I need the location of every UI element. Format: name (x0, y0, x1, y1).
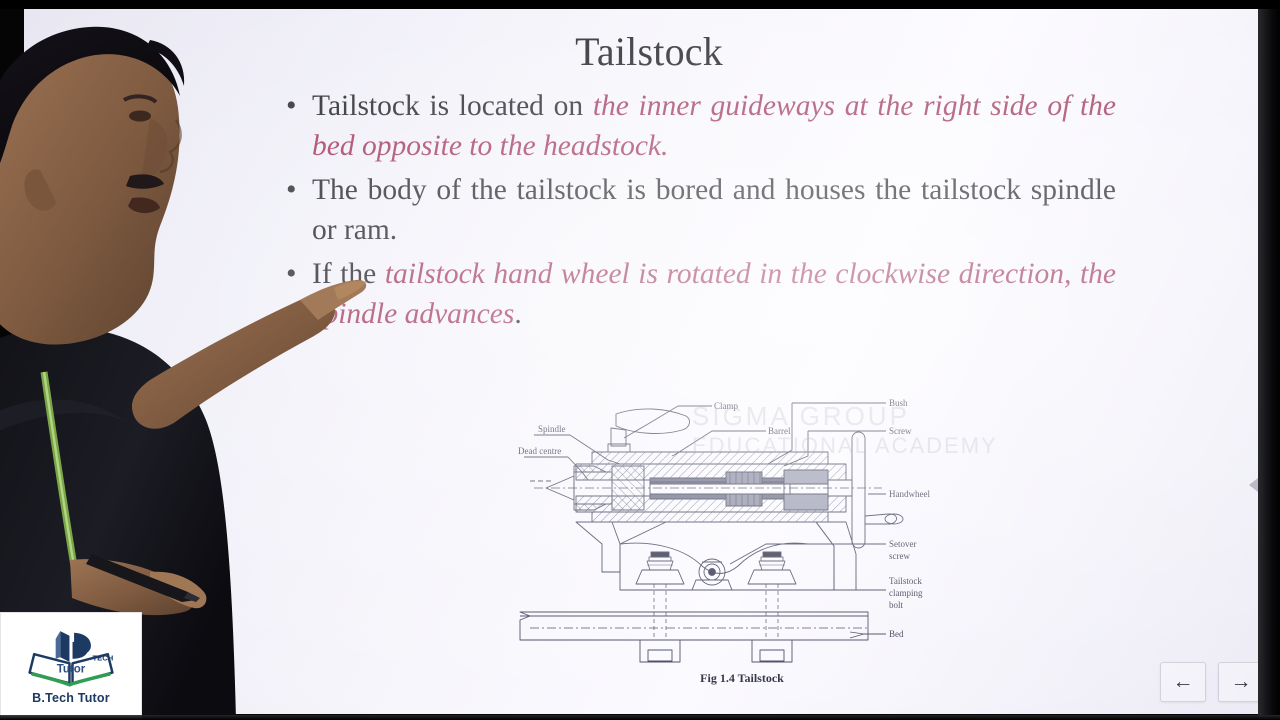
list-item: • If the tailstock hand wheel is rotated… (286, 254, 1116, 334)
screen-bezel-right (1258, 0, 1280, 720)
label-barrel: Barrel (768, 426, 791, 436)
label-bed: Bed (889, 629, 904, 639)
list-item-text: The body of the tailstock is bored and h… (312, 170, 1116, 250)
screen-bezel-top (0, 0, 1280, 9)
list-item: • Tailstock is located on the inner guid… (286, 86, 1116, 166)
label-setover-screw-1: Setover (889, 539, 917, 549)
tailstock-diagram: SIGMA GROUP EDUCATIONAL ACADEMY (516, 394, 968, 694)
arrow-right-icon: → (1231, 670, 1252, 694)
list-item: • The body of the tailstock is bored and… (286, 170, 1116, 250)
bullet-list: • Tailstock is located on the inner guid… (286, 86, 1116, 338)
text-segment: If the (312, 258, 385, 290)
text-segment-emphasis: tailstock hand wheel is rotated in the c… (312, 258, 1116, 330)
list-item-text: If the tailstock hand wheel is rotated i… (312, 254, 1116, 334)
page-title: Tailstock (24, 28, 1274, 75)
video-frame: Tailstock • Tailstock is located on the … (0, 0, 1280, 720)
label-screw: Screw (889, 426, 912, 436)
collapse-panel-arrow-icon[interactable] (1249, 478, 1258, 492)
label-clamping-bolt-1: Tailstock (889, 576, 922, 586)
screen-bezel-bottom (0, 715, 1280, 720)
tailstock-drawing-svg: Clamp Bush Barrel Screw Spindle Dead cen… (516, 394, 968, 694)
bullet-marker: • (286, 86, 312, 126)
label-clamping-bolt-3: bolt (889, 600, 904, 610)
presentation-slide: Tailstock • Tailstock is located on the … (24, 8, 1274, 714)
arrow-left-icon: ← (1173, 670, 1194, 694)
label-bush: Bush (889, 398, 908, 408)
label-handwheel: Handwheel (889, 489, 930, 499)
bullet-marker: • (286, 254, 312, 294)
label-dead-centre: Dead centre (518, 446, 561, 456)
bullet-marker: • (286, 170, 312, 210)
channel-logo: TECH Tutor B.Tech Tutor (0, 612, 142, 720)
logo-tech-text: TECH (92, 653, 113, 662)
text-segment: Tailstock is located on (312, 90, 593, 122)
logo-tutor-text: Tutor (57, 663, 86, 675)
slide-navigation[interactable]: ← → (1160, 662, 1264, 702)
previous-slide-button[interactable]: ← (1160, 662, 1206, 702)
text-segment: . (514, 298, 521, 330)
logo-label: B.Tech Tutor (32, 691, 110, 705)
label-clamp: Clamp (714, 401, 738, 411)
figure-caption: Fig 1.4 Tailstock (700, 671, 784, 685)
text-segment: The body of the tailstock is bored and h… (312, 174, 1116, 246)
book-pen-logo-icon: TECH Tutor (25, 628, 117, 688)
label-setover-screw-2: screw (889, 551, 910, 561)
label-spindle: Spindle (538, 424, 566, 434)
list-item-text: Tailstock is located on the inner guidew… (312, 86, 1116, 166)
label-clamping-bolt-2: clamping (889, 588, 923, 598)
